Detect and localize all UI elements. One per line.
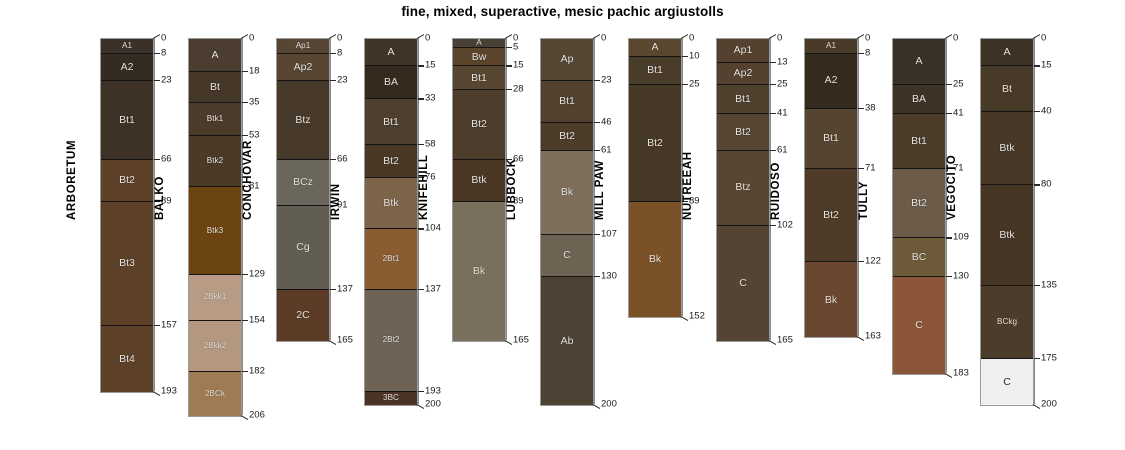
soil-horizon[interactable]: A1 [805,39,857,54]
horizon-label: BA [384,77,398,88]
profile-name-label: TULLY [858,181,870,220]
soil-horizon[interactable]: Bt1 [893,114,945,169]
soil-horizon[interactable]: BC [893,238,945,276]
horizon-label: Bk [825,295,837,306]
depth-tick [505,340,513,345]
depth-tick-label: 15 [425,61,436,71]
soil-horizon[interactable]: A [893,39,945,85]
profile-name-label: CONCHOVAR [242,140,254,220]
depth-tick-label: 18 [249,66,260,76]
depth-tick-label: 0 [249,33,254,43]
depth-tick-label: 33 [425,94,436,104]
depth-tick [858,53,864,54]
depth-tick-label: 61 [601,145,612,155]
horizon-label: Bt2 [735,127,751,138]
depth-tick [417,34,425,39]
horizon-label: Bt2 [647,138,663,149]
horizon-label: Ap2 [294,62,313,73]
depth-tick-label: 66 [161,154,172,164]
depth-tick-label: 0 [601,33,606,43]
depth-tick-label: 175 [1041,354,1057,364]
depth-tick-label: 135 [1041,280,1057,290]
depth-tick [241,415,249,420]
horizon-label: Bt1 [119,115,135,126]
soil-horizon[interactable]: Ap1 [717,39,769,63]
depth-tick [594,234,600,235]
horizon-label: C [915,320,923,331]
depth-tick-label: 165 [337,335,353,345]
depth-tick-label: 130 [601,271,617,281]
soil-horizon[interactable]: Bt1 [541,81,593,123]
depth-tick-label: 13 [777,57,788,67]
horizon-label: Ap1 [296,42,311,50]
horizon-label: 2Bkk2 [204,342,227,350]
horizon-label: 3BC [383,394,399,402]
depth-tick-label: 41 [777,108,788,118]
profile-column: ABABt1Bt2Btk2Bt12Bt23BC [364,38,418,406]
depth-tick [330,289,336,290]
depth-tick [770,150,776,151]
horizon-label: A1 [826,42,836,50]
soil-horizon[interactable]: Bt1 [365,99,417,145]
soil-horizon[interactable]: Bk [805,262,857,337]
profile-column: A1A2Bt1Bt2Bk [804,38,858,338]
soil-horizon[interactable]: 2Bkk2 [189,321,241,372]
depth-tick [1033,404,1041,409]
horizon-label: A [211,50,218,61]
soil-horizon[interactable]: Btk [981,112,1033,185]
depth-tick [329,340,337,345]
depth-tick [769,34,777,39]
depth-tick-label: 23 [161,75,172,85]
soil-horizon[interactable]: Bt4 [101,326,153,392]
soil-horizon[interactable]: BCz [277,160,329,206]
depth-tick [946,276,952,277]
horizon-label: A [1003,47,1010,58]
horizon-label: Bt1 [383,117,399,128]
soil-horizon[interactable]: C [893,277,945,374]
depth-tick-label: 0 [689,33,694,43]
horizon-label: Cg [296,242,309,253]
depth-tick-label: 107 [601,229,617,239]
soil-horizon[interactable]: A [981,39,1033,66]
page-title: fine, mixed, superactive, mesic pachic a… [0,4,1125,19]
depth-tick [682,84,688,85]
depth-tick [506,89,512,90]
horizon-label: BCkg [997,318,1017,326]
soil-horizon[interactable]: Cg [277,206,329,290]
horizon-label: Ap2 [734,68,753,79]
depth-tick [330,53,336,54]
soil-horizon[interactable]: 2Bt1 [365,229,417,289]
horizon-label: Bt3 [119,258,135,269]
soil-horizon[interactable]: A1 [101,39,153,54]
soil-horizon[interactable]: Bt1 [717,85,769,114]
soil-horizon[interactable]: BA [365,66,417,99]
depth-tick-label: 183 [953,368,969,378]
horizon-label: A2 [825,75,838,86]
depth-tick-label: 5 [513,42,518,52]
depth-tick-label: 206 [249,410,265,420]
soil-horizon[interactable]: Bt1 [453,66,505,90]
horizon-label: Bt4 [119,354,135,365]
soil-horizon[interactable]: Bt1 [805,109,857,169]
horizon-label: A [915,56,922,67]
horizon-label: Bw [472,52,487,63]
depth-tick-label: 25 [953,79,964,89]
depth-tick [682,56,688,57]
soil-horizon[interactable]: Bk [453,202,505,341]
depth-tick-label: 193 [161,386,177,396]
depth-tick-label: 8 [161,48,166,58]
soil-horizon[interactable]: Btz [717,151,769,226]
soil-horizon[interactable]: Bt2 [453,90,505,160]
depth-tick-label: 130 [953,271,969,281]
depth-tick-label: 122 [865,257,881,267]
horizon-label: Btk [383,198,398,209]
depth-tick-label: 35 [249,97,260,107]
profile-column: ABt1Bt2Bk [628,38,682,318]
depth-tick [1034,111,1040,112]
depth-tick-label: 102 [777,220,793,230]
depth-tick-label: 193 [425,386,441,396]
soil-horizon[interactable]: Bt2 [541,123,593,150]
depth-tick-label: 163 [865,332,881,342]
soil-horizon[interactable]: A2 [101,54,153,81]
depth-tick [154,159,160,160]
horizon-label: 2Bkk1 [204,293,227,301]
depth-tick [769,340,777,345]
soil-horizon[interactable]: A2 [805,54,857,109]
depth-tick-label: 0 [777,33,782,43]
depth-tick [681,316,689,321]
soil-horizon[interactable]: A [629,39,681,57]
depth-tick-label: 152 [689,311,705,321]
axis-line [1034,38,1035,404]
depth-tick [858,168,864,169]
depth-tick-label: 0 [161,33,166,43]
axis-line [594,38,595,404]
soil-horizon[interactable]: Ap1 [277,39,329,54]
horizon-label: A [476,39,481,47]
horizon-label: Bt1 [647,65,663,76]
depth-tick [858,108,864,109]
horizon-label: Btk [999,143,1014,154]
soil-horizon[interactable]: Bk [629,202,681,317]
depth-tick-label: 0 [1041,33,1046,43]
axis-line [242,38,243,415]
horizon-label: Bt1 [823,133,839,144]
soil-horizon[interactable]: Btz [277,81,329,160]
depth-tick [594,276,600,277]
soil-horizon[interactable]: Btk2 [189,136,241,187]
soil-horizon[interactable]: Btk [365,178,417,229]
profile-name-label: KNIFEHILL [418,155,430,220]
soil-horizon[interactable]: Bt1 [101,81,153,160]
soil-horizon[interactable]: A [365,39,417,66]
depth-tick [154,80,160,81]
depth-tick-label: 80 [1041,180,1052,190]
depth-tick [594,150,600,151]
soil-horizon[interactable]: Bt2 [629,85,681,202]
soil-horizon[interactable]: Ap2 [277,54,329,81]
horizon-label: Bk [649,254,661,265]
depth-tick-label: 0 [337,33,342,43]
depth-tick [946,237,952,238]
axis-line [418,38,419,404]
depth-tick [857,34,865,39]
horizon-label: A1 [122,42,132,50]
horizon-label: Bk [561,187,573,198]
depth-tick [945,34,953,39]
depth-tick [506,47,512,48]
depth-tick [770,225,776,226]
horizon-label: Bt2 [911,198,927,209]
depth-tick [329,34,337,39]
depth-tick [242,274,248,275]
depth-tick [946,84,952,85]
depth-tick [681,34,689,39]
depth-tick-label: 200 [1041,399,1057,409]
soil-horizon[interactable]: Bt2 [805,169,857,262]
horizon-label: A [651,42,658,53]
horizon-label: Btk1 [207,115,223,123]
soil-horizon[interactable]: Bk [541,151,593,235]
depth-tick-label: 0 [425,33,430,43]
depth-tick-label: 154 [249,315,265,325]
depth-tick [242,102,248,103]
depth-tick [593,404,601,409]
depth-tick-label: 46 [601,117,612,127]
depth-tick-label: 15 [1041,61,1052,71]
soil-horizon[interactable]: C [981,359,1033,405]
depth-tick [505,34,513,39]
depth-tick-label: 66 [337,154,348,164]
profile-column: ABwBt1Bt2BtkBk [452,38,506,342]
depth-tick [770,62,776,63]
depth-tick [242,135,248,136]
soil-horizon[interactable]: Bt2 [365,145,417,178]
depth-tick-label: 15 [513,61,524,71]
depth-tick [770,113,776,114]
soil-horizon[interactable]: 2C [277,290,329,341]
profile-name-label: RUIDOSO [770,162,782,220]
soil-horizon[interactable]: 2Bkk1 [189,275,241,321]
horizon-label: Bt2 [471,119,487,130]
depth-tick-label: 200 [425,399,441,409]
depth-tick-label: 182 [249,366,265,376]
profile-name-label: ARBORETUM [66,140,78,220]
profile-column: Ap1Ap2Bt1Bt2BtzC [716,38,770,342]
horizon-label: 2Bt2 [383,336,400,344]
horizon-label: A2 [121,62,134,73]
depth-tick-label: 137 [337,284,353,294]
horizon-label: Bk [473,266,485,277]
soil-horizon[interactable]: Btk [981,185,1033,286]
horizon-label: BCz [293,177,313,188]
depth-tick [857,336,865,341]
depth-tick [242,371,248,372]
profile-column: ApBt1Bt2BkCAb [540,38,594,406]
soil-horizon[interactable]: Ap2 [717,63,769,85]
depth-tick-label: 28 [513,84,524,94]
soil-horizon[interactable]: BCkg [981,286,1033,359]
horizon-label: C [1003,377,1011,388]
profile-name-label: VEGOCITO [946,155,958,220]
depth-tick [506,65,512,66]
depth-tick-label: 40 [1041,106,1052,116]
depth-tick [1033,34,1041,39]
horizon-label: Bt1 [911,136,927,147]
depth-tick [418,65,424,66]
depth-tick [330,80,336,81]
depth-tick [1034,65,1040,66]
horizon-label: 2Bt1 [383,255,400,263]
depth-tick [418,391,424,392]
depth-tick-label: 23 [337,75,348,85]
depth-tick [418,289,424,290]
soil-horizon[interactable]: 2Bt2 [365,290,417,392]
depth-tick-label: 137 [425,284,441,294]
soil-horizon[interactable]: BA [893,85,945,114]
profile-column: ABtBtk1Btk2Btk32Bkk12Bkk22BCk [188,38,242,417]
depth-tick [1034,285,1040,286]
horizon-label: Bt [210,82,220,93]
depth-tick [593,34,601,39]
depth-tick-label: 8 [865,48,870,58]
horizon-label: A [387,47,394,58]
depth-tick-label: 109 [953,233,969,243]
horizon-label: Btk2 [207,157,223,165]
soil-horizon[interactable]: Bt [189,72,241,103]
soil-horizon[interactable]: Btk [453,160,505,202]
soil-horizon[interactable]: Bt2 [893,169,945,239]
horizon-label: Bt2 [119,175,135,186]
depth-tick [241,34,249,39]
depth-tick-label: 157 [161,321,177,331]
soil-horizon[interactable]: Bt1 [629,57,681,84]
soil-horizon[interactable]: Bt3 [101,202,153,326]
depth-tick [594,122,600,123]
horizon-label: Ap1 [734,45,753,56]
soil-horizon[interactable]: Btk3 [189,187,241,275]
depth-tick [946,113,952,114]
horizon-label: C [563,250,571,261]
profile-column: A1A2Bt1Bt2Bt3Bt4 [100,38,154,393]
depth-tick [154,53,160,54]
depth-tick-label: 8 [337,48,342,58]
depth-tick [242,320,248,321]
horizon-label: BA [912,94,926,105]
soil-horizon[interactable]: A [453,39,505,48]
depth-tick-label: 0 [953,33,958,43]
horizon-label: 2C [296,310,309,321]
depth-tick-label: 23 [601,75,612,85]
depth-tick-label: 165 [777,335,793,345]
horizon-label: Btk [999,230,1014,241]
depth-tick-label: 41 [953,108,964,118]
horizon-label: Btk [471,175,486,186]
depth-tick [1034,358,1040,359]
depth-tick [417,404,425,409]
depth-tick-label: 104 [425,224,441,234]
depth-tick [330,159,336,160]
soil-horizon[interactable]: Bt [981,66,1033,112]
soil-horizon[interactable]: A [189,39,241,72]
horizon-label: Btk3 [207,227,223,235]
depth-tick [858,261,864,262]
horizon-label: Bt2 [823,210,839,221]
depth-tick-label: 53 [249,130,260,140]
horizon-label: Btz [295,115,310,126]
soil-horizon[interactable]: Bw [453,48,505,66]
profile-column: Ap1Ap2BtzBCzCg2C [276,38,330,342]
horizon-label: 2BCk [205,390,225,398]
horizon-label: Bt2 [559,131,575,142]
horizon-label: Bt1 [735,94,751,105]
profile-name-label: BALKO [154,176,166,220]
depth-tick [945,373,953,378]
depth-tick [153,34,161,39]
horizon-label: Bt1 [471,73,487,84]
depth-tick [594,80,600,81]
horizon-label: BC [912,252,927,263]
depth-tick [418,228,424,229]
soil-horizon[interactable]: C [717,226,769,341]
depth-tick-label: 0 [865,33,870,43]
horizon-label: Btz [735,182,750,193]
soil-horizon[interactable]: Bt2 [101,160,153,202]
depth-tick [154,325,160,326]
depth-tick [153,391,161,396]
soil-horizon[interactable]: Ap [541,39,593,81]
depth-tick [242,71,248,72]
depth-tick-label: 71 [865,163,876,173]
horizon-label: Ap [561,54,574,65]
profile-name-label: MILL PAW [594,160,606,220]
profile-name-label: IRWIN [330,183,342,220]
depth-tick-label: 58 [425,139,436,149]
horizon-label: Bt2 [383,156,399,167]
soil-horizon[interactable]: 2BCk [189,372,241,416]
soil-horizon[interactable]: Ab [541,277,593,405]
horizon-label: Bt1 [559,96,575,107]
depth-tick-label: 129 [249,269,265,279]
depth-tick-label: 38 [865,103,876,113]
profile-name-label: NUTREEAH [682,151,694,220]
soil-horizon[interactable]: C [541,235,593,277]
horizon-label: Ab [561,336,574,347]
depth-tick-label: 25 [689,79,700,89]
soil-horizon[interactable]: 3BC [365,392,417,405]
profile-column: ABtBtkBtkBCkgC [980,38,1034,406]
depth-tick-label: 25 [777,79,788,89]
depth-tick [1034,184,1040,185]
depth-tick-label: 10 [689,52,700,62]
soil-horizon[interactable]: Bt2 [717,114,769,151]
horizon-label: Bt [1002,84,1012,95]
depth-tick [418,98,424,99]
depth-tick [770,84,776,85]
soil-horizon[interactable]: Btk1 [189,103,241,136]
profile-column: ABABt1Bt2BCC [892,38,946,375]
depth-tick-label: 200 [601,399,617,409]
profile-name-label: LUBBOCK [506,158,518,220]
depth-tick-label: 165 [513,335,529,345]
depth-tick [418,144,424,145]
horizon-label: C [739,278,747,289]
depth-tick-label: 61 [777,145,788,155]
